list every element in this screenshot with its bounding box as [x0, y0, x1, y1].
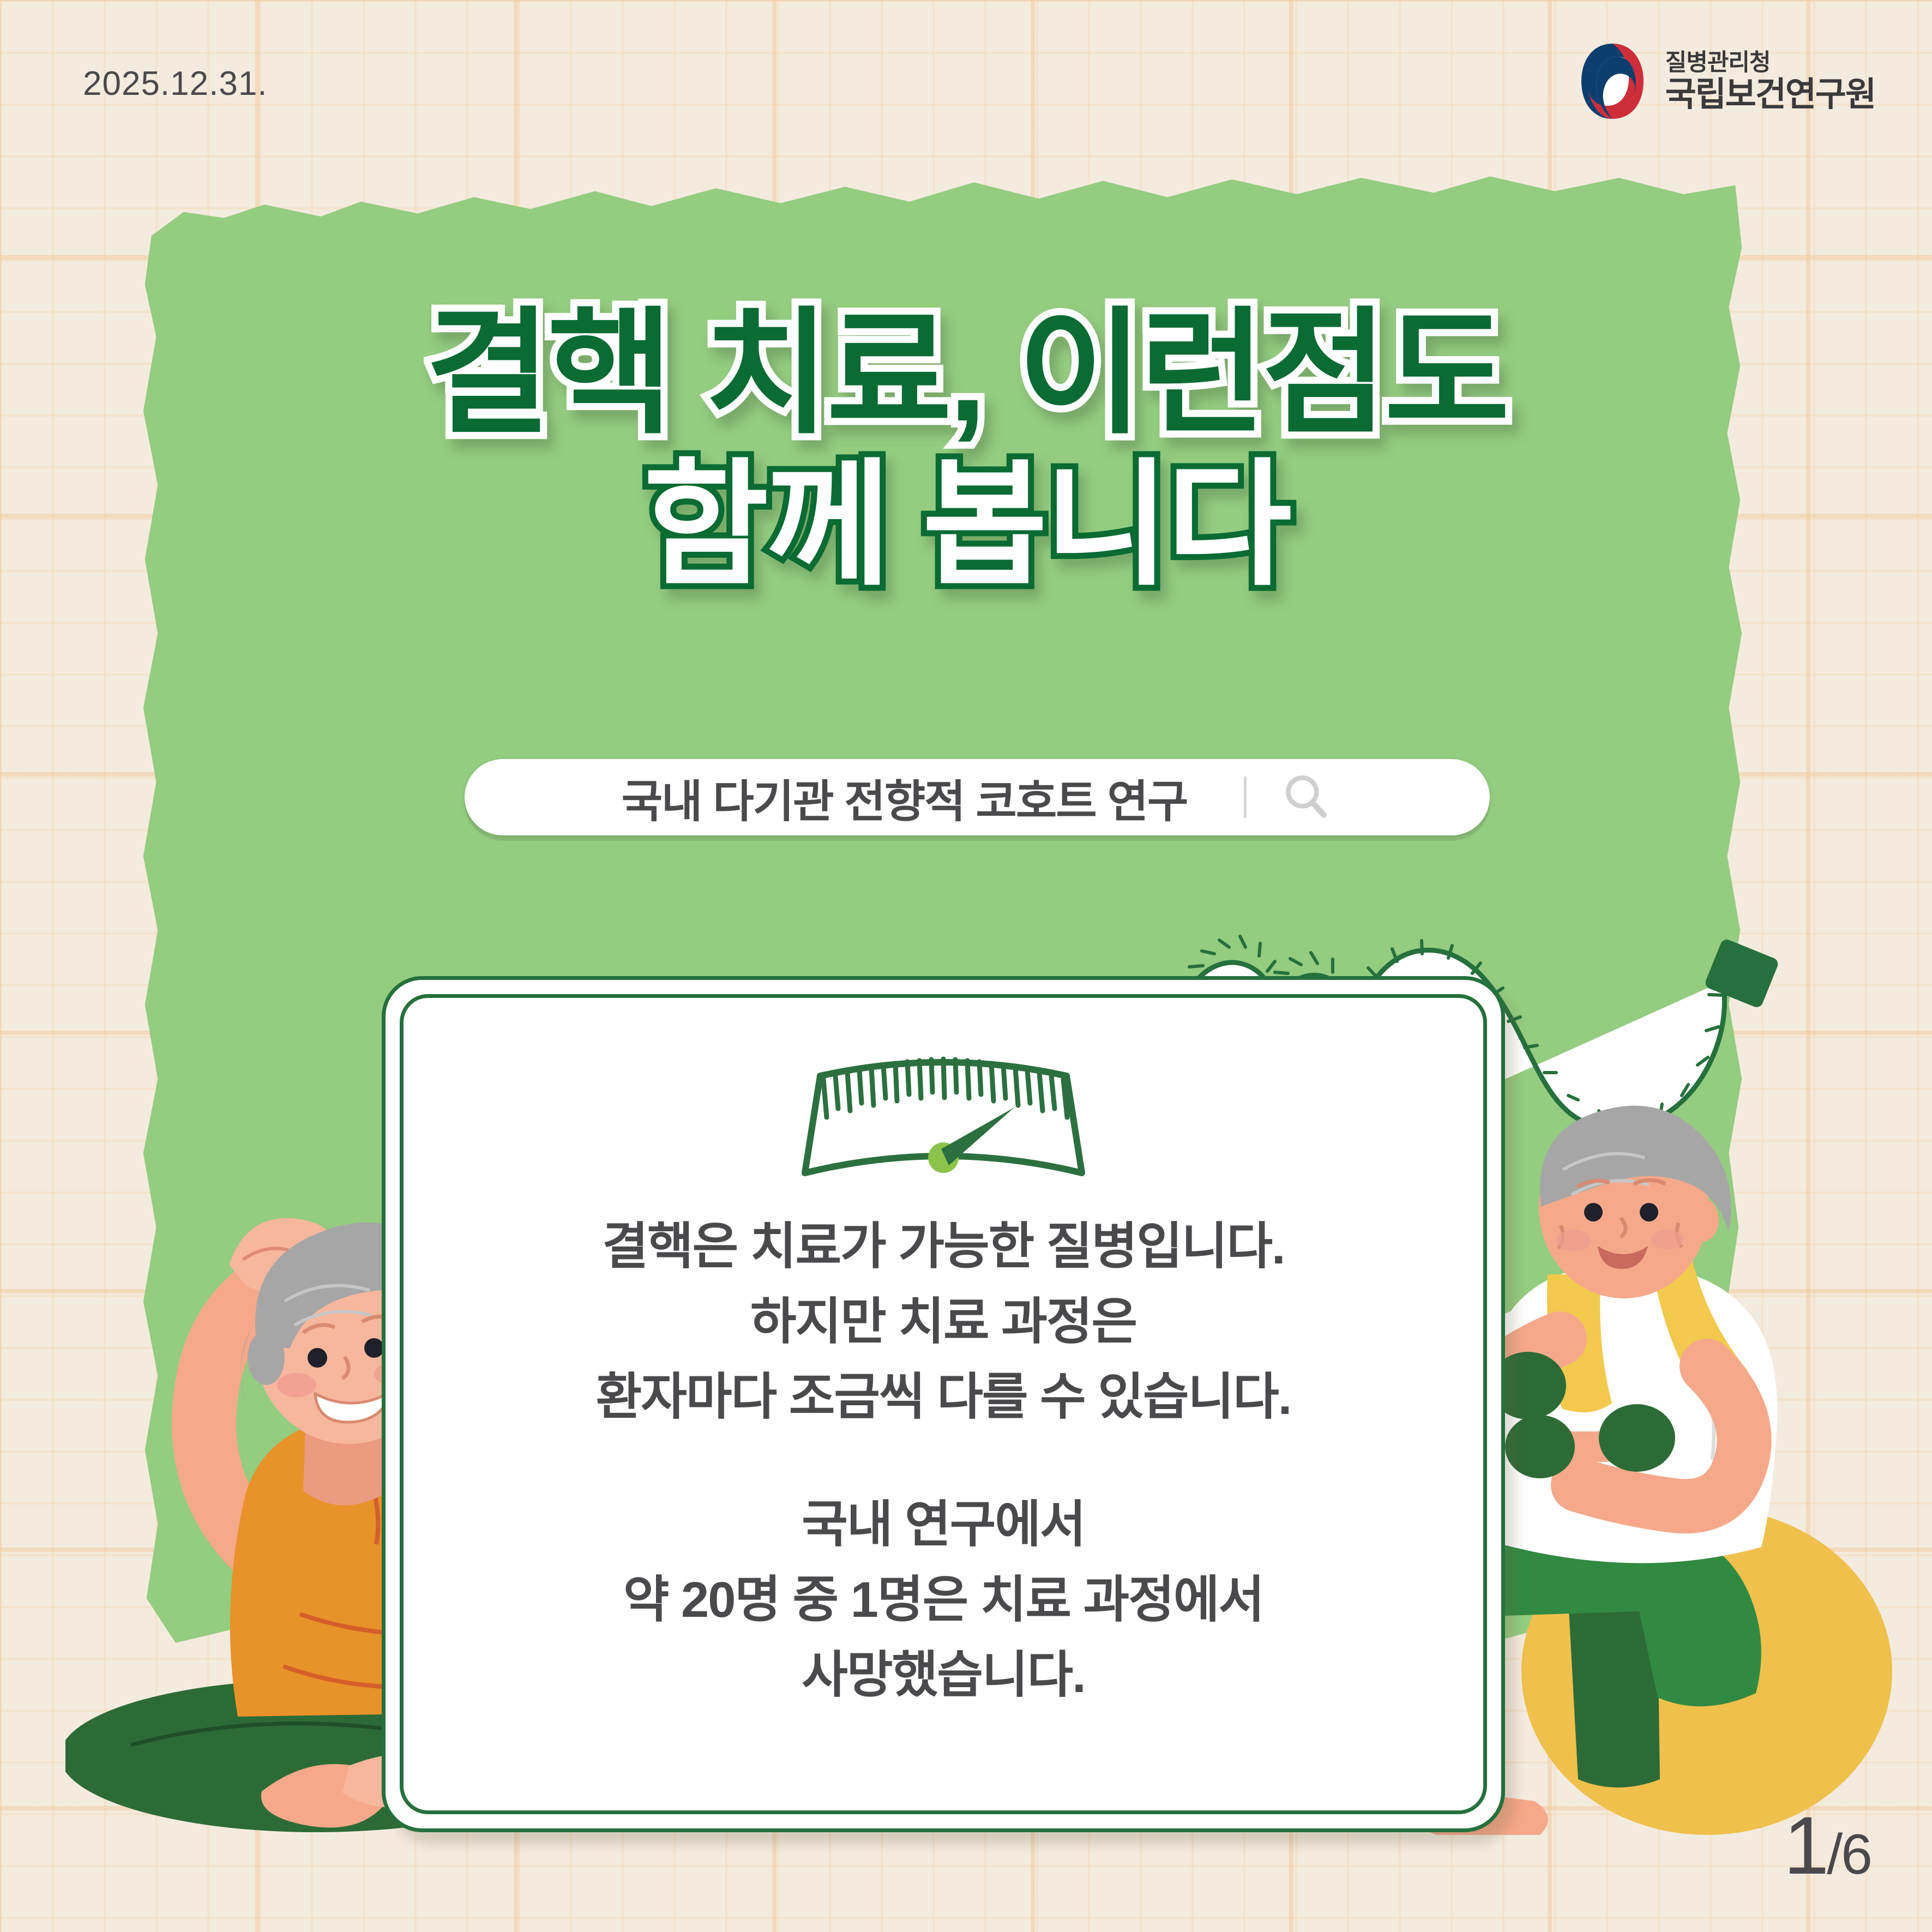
date-label: 2025.12.31.	[83, 64, 268, 103]
page-indicator: 1 /6	[1784, 1798, 1871, 1893]
logo-agency-small: 질병관리청	[1665, 51, 1875, 75]
search-bar[interactable]: 국내 다기관 전향적 코호트 연구	[465, 759, 1490, 835]
card-text-block: 결핵은 치료가 가능한 질병입니다.하지만 치료 과정은환자마다 조금씩 다를 …	[386, 1209, 1501, 1713]
logo-agency-large: 국립보건연구원	[1665, 78, 1875, 112]
page-current: 1	[1784, 1798, 1827, 1893]
body-paragraph-1: 결핵은 치료가 가능한 질병입니다.하지만 치료 과정은환자마다 조금씩 다를 …	[386, 1209, 1501, 1435]
page-total: /6	[1827, 1822, 1871, 1887]
search-icon[interactable]	[1280, 771, 1333, 823]
info-card: 결핵은 치료가 가능한 질병입니다.하지만 치료 과정은환자마다 조금씩 다를 …	[382, 976, 1505, 1832]
agency-logo: 질병관리청 국립보건연구원	[1572, 40, 1875, 122]
scale-gauge-icon	[785, 1037, 1102, 1189]
search-divider	[1244, 777, 1247, 818]
body-paragraph-2: 국내 연구에서약 20명 중 1명은 치료 과정에서사망했습니다.	[386, 1487, 1501, 1713]
taegeuk-icon	[1572, 40, 1653, 122]
search-query-text: 국내 다기관 전향적 코호트 연구	[622, 765, 1188, 830]
